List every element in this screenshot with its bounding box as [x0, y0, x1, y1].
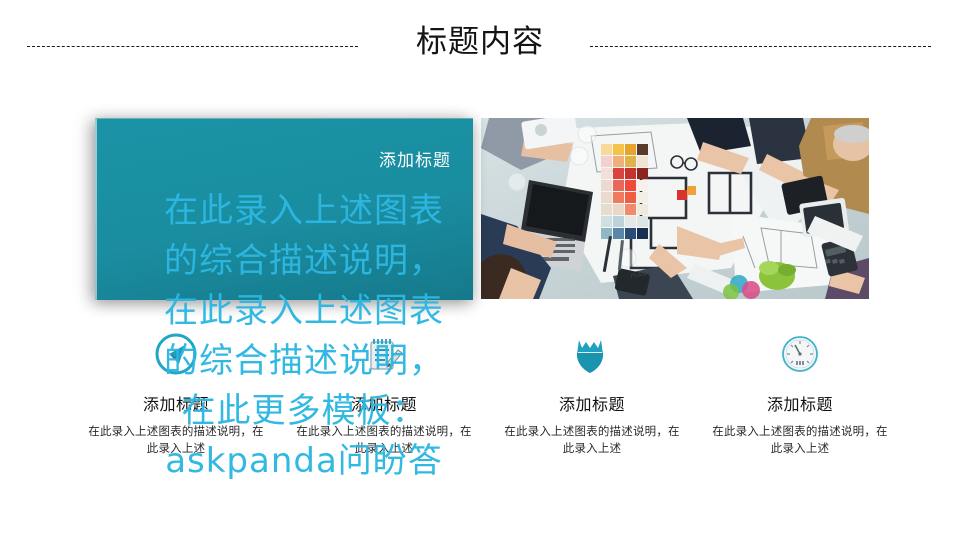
- feature-column-1: 添加标题 在此录入上述图表的描述说明，在此录入上述: [70, 330, 282, 457]
- dashed-rule-right: [590, 46, 931, 47]
- gauge-dial-icon: [694, 330, 906, 378]
- notepad-pencil-icon: [278, 330, 490, 378]
- shield-crest-icon: [486, 330, 698, 378]
- feature-column-2: 添加标题 在此录入上述图表的描述说明，在此录入上述: [278, 330, 490, 457]
- column-body: 在此录入上述图表的描述说明，在此录入上述: [694, 423, 906, 457]
- feature-column-4: 添加标题 在此录入上述图表的描述说明，在此录入上述: [694, 330, 906, 457]
- teal-content-panel: 添加标题: [95, 118, 473, 300]
- column-title: 添加标题: [278, 394, 490, 416]
- feature-column-3: 添加标题 在此录入上述图表的描述说明，在此录入上述: [486, 330, 698, 457]
- page-title: 标题内容: [0, 22, 960, 62]
- column-title: 添加标题: [486, 394, 698, 416]
- team-meeting-photo: PLAN A: [481, 118, 869, 299]
- teal-panel-title: 添加标题: [379, 149, 451, 173]
- compass-arrow-icon: [70, 330, 282, 378]
- column-body: 在此录入上述图表的描述说明，在此录入上述: [278, 423, 490, 457]
- column-body: 在此录入上述图表的描述说明，在此录入上述: [486, 423, 698, 457]
- column-title: 添加标题: [694, 394, 906, 416]
- column-title: 添加标题: [70, 394, 282, 416]
- dashed-rule-left: [27, 46, 358, 47]
- slide-header: 标题内容: [0, 0, 960, 95]
- column-body: 在此录入上述图表的描述说明，在此录入上述: [70, 423, 282, 457]
